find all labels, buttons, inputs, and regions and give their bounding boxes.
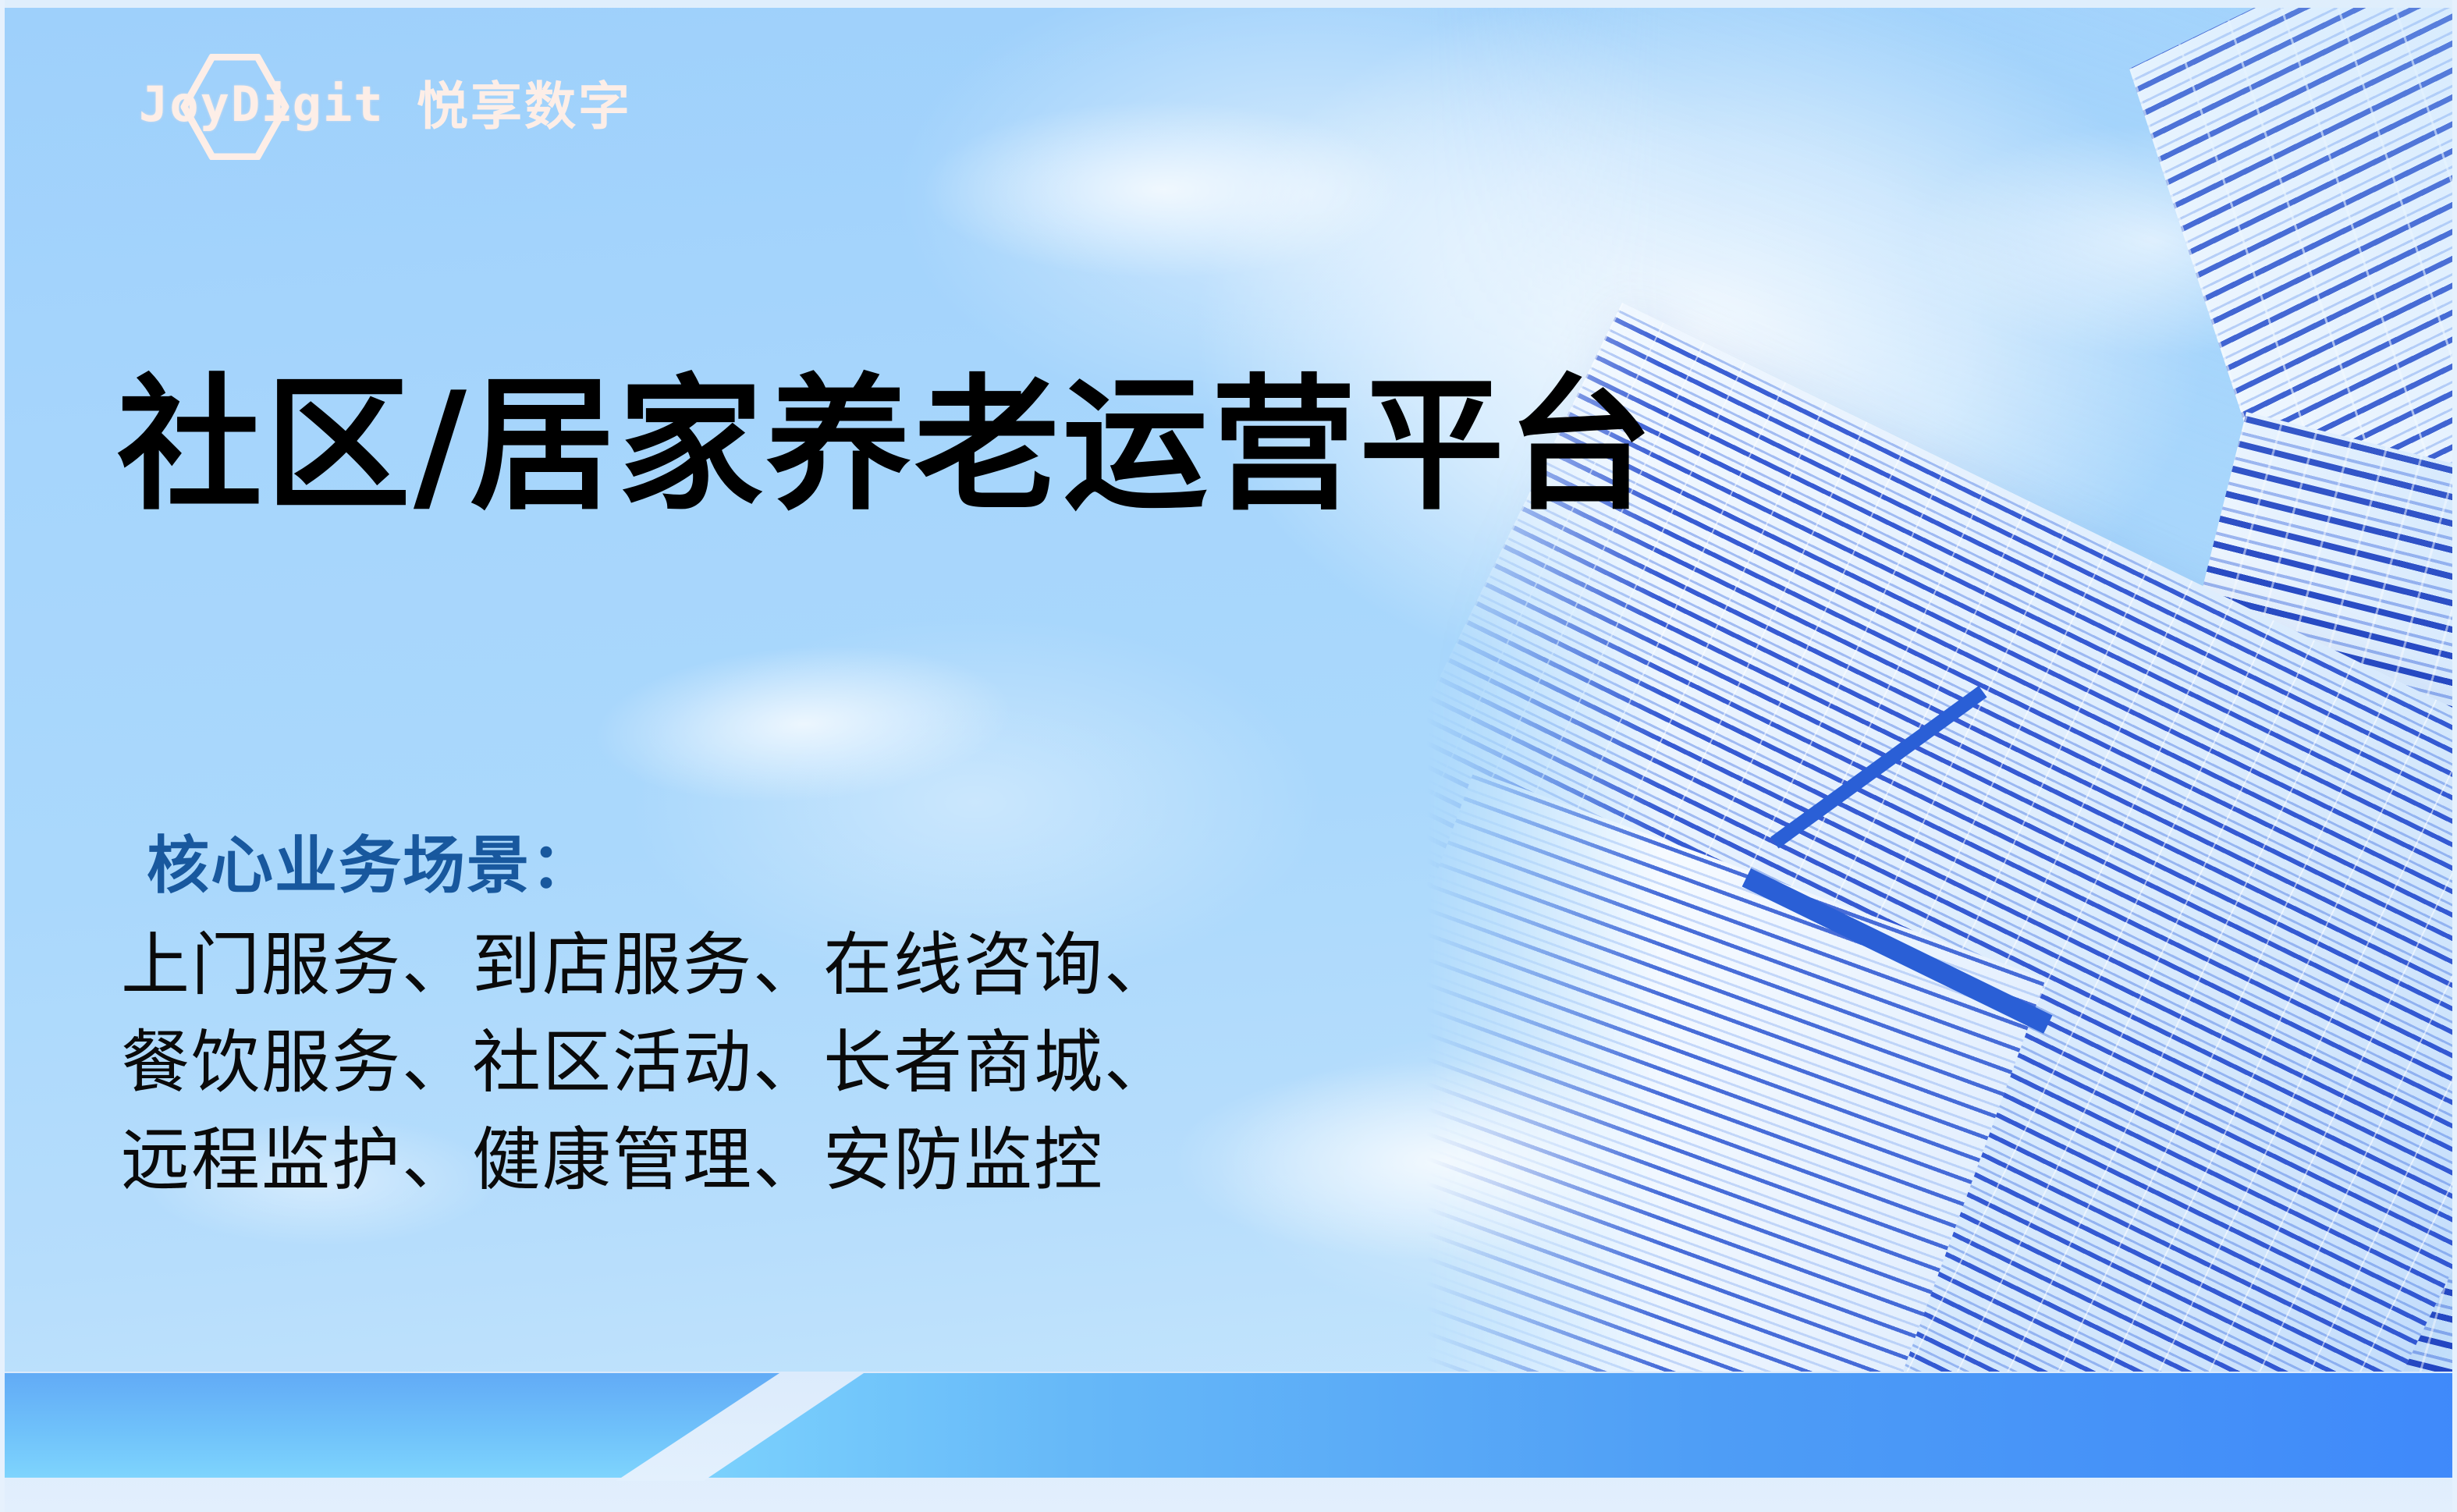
section-heading: 核心业务场景： (147, 832, 595, 900)
cloud-wisp (921, 100, 1404, 279)
brand-logo: JoyDigit 悦享数字 (139, 64, 632, 150)
scenario-line: 远程监护、健康管理、安防监控 (121, 1112, 1174, 1209)
left-border-rule (0, 0, 5, 1512)
scenario-line: 餐饮服务、社区活动、长者商城、 (121, 1014, 1174, 1112)
page-title: 社区/居家养老运营平台 (117, 367, 1656, 524)
cloud-wisp (588, 631, 1020, 816)
slide-canvas: JoyDigit 悦享数字 社区/居家养老运营平台 核心业务场景： 上门服务、到… (0, 0, 2457, 1512)
scenario-line: 上门服务、到店服务、在线咨询、 (121, 917, 1174, 1014)
logo-wordmark: JoyDigit (139, 80, 385, 129)
ribbon-band-right (687, 1373, 2457, 1478)
logo-chinese-name: 悦享数字 (417, 81, 632, 133)
skyscraper-photo (1427, 6, 2457, 1379)
logo-mark: JoyDigit (139, 65, 396, 149)
right-border-rule (2452, 0, 2457, 1512)
scenario-list: 上门服务、到店服务、在线咨询、 餐饮服务、社区活动、长者商城、 远程监护、健康管… (121, 917, 1174, 1209)
top-border-rule (0, 0, 2457, 8)
